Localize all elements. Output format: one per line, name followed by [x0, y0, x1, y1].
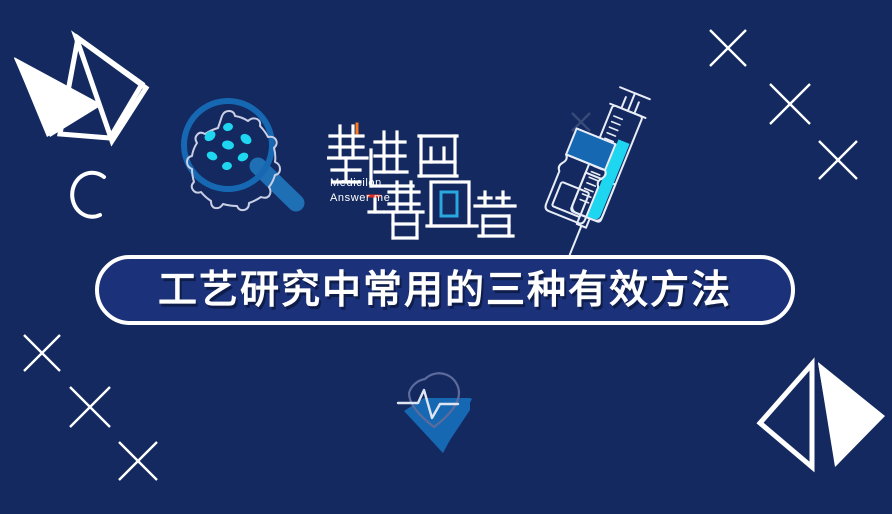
- arc-decoration-icon: [72, 173, 104, 217]
- cross-decoration-icon: [710, 30, 857, 179]
- heartbeat-icon: [398, 373, 472, 453]
- syringe-icon: [552, 86, 652, 262]
- logo-glyph-hui: [431, 182, 469, 226]
- logo-glyph-xi: [419, 136, 457, 176]
- virus-dot: [203, 122, 254, 171]
- medicilon-logo: 美迪西 请回答: [327, 120, 522, 240]
- triangle-pair-bottom-right-icon: [760, 362, 885, 470]
- logo-glyph-da: [475, 192, 515, 236]
- magnifier-virus-icon: [184, 101, 296, 210]
- logo-glyph-mei: [327, 126, 367, 182]
- logo-en-line1: Medicilon: [330, 176, 408, 191]
- logo-en-line2: Answer me: [330, 191, 408, 206]
- triangle-pair-top-left-icon: [14, 37, 146, 141]
- vial-icon: [542, 128, 617, 226]
- logo-inner-box: [441, 192, 457, 216]
- title-pill: 工艺研究中常用的三种有效方法: [95, 255, 795, 325]
- logo-english-text: Medicilon Answer me: [330, 176, 408, 206]
- faint-cross-icon: [572, 113, 590, 131]
- cross-decoration-icon: [24, 335, 157, 480]
- page-title: 工艺研究中常用的三种有效方法: [158, 271, 732, 310]
- banner-root: 美迪西 请回答: [0, 0, 892, 514]
